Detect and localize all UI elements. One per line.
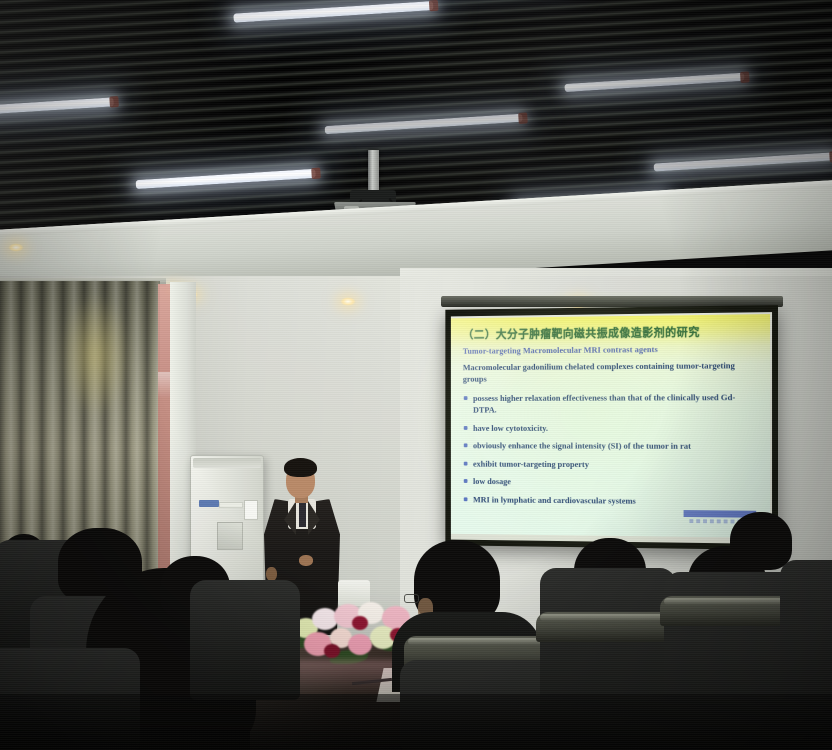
- flower-bloom: [348, 634, 372, 655]
- presentation-slide: （二）大分子肿瘤靶向磁共振成像造影剂的研究 Tumor-targeting Ma…: [451, 314, 770, 538]
- presenter-hand: [299, 555, 313, 566]
- presenter-hand-left: [266, 567, 277, 581]
- foreground-shadow: [0, 694, 832, 750]
- slide-title-chinese: （二）大分子肿瘤靶向磁共振成像造影剂的研究: [463, 323, 760, 342]
- slide-bullet: have low cytotoxicity.: [463, 422, 760, 434]
- slide-bullet: possess higher relaxation effectiveness …: [463, 391, 760, 416]
- audience-head: [730, 512, 792, 570]
- eyeglasses: [404, 594, 419, 603]
- audience-chair: [190, 580, 300, 700]
- slide-paragraph: Macromolecular gadonilium chelated compl…: [463, 359, 760, 385]
- ac-air-outlet: [217, 522, 243, 550]
- recessed-downlight: [8, 243, 24, 252]
- projection-screen: （二）大分子肿瘤靶向磁共振成像造影剂的研究 Tumor-targeting Ma…: [445, 305, 778, 550]
- slide-subtitle-english: Tumor-targeting Macromolecular MRI contr…: [463, 343, 760, 356]
- presenter-tie: [299, 503, 306, 527]
- ac-top-vent: [193, 458, 261, 468]
- curtain-daylight-glow: [60, 295, 130, 415]
- ac-display-panel: [219, 502, 243, 508]
- presenter-hair: [284, 458, 317, 477]
- recessed-downlight: [340, 297, 356, 306]
- slide-bullet: MRI in lymphatic and cardiovascular syst…: [463, 493, 760, 508]
- conference-room-photo: （二）大分子肿瘤靶向磁共振成像造影剂的研究 Tumor-targeting Ma…: [0, 0, 832, 750]
- ac-brand-logo: [199, 500, 219, 507]
- slide-bullet: obviously enhance the signal intensity (…: [463, 440, 760, 453]
- flower-bloom: [352, 616, 368, 630]
- slide-bullet: low dosage: [463, 476, 760, 490]
- ac-side-label: [244, 500, 258, 520]
- slide-bullet: exhibit tumor-targeting property: [463, 458, 760, 472]
- flower-bloom: [324, 644, 340, 658]
